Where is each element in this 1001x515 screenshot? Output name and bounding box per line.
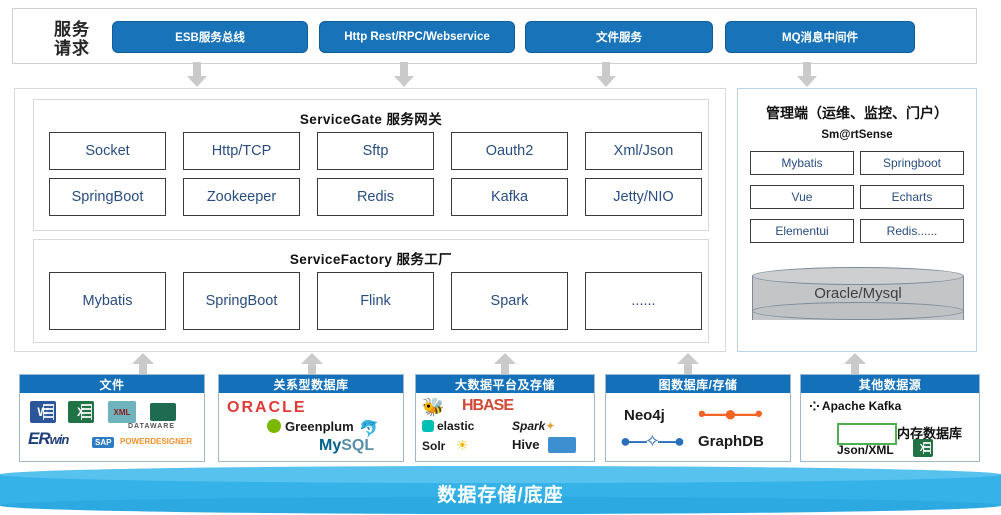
service-request-label-line2: 请求 <box>39 39 105 58</box>
service-factory-title: ServiceFactory 服务工厂 <box>34 248 708 268</box>
erwin-logo: ERwin <box>28 429 68 449</box>
gate-cell-springboot[interactable]: SpringBoot <box>49 178 166 216</box>
oracle-logo: ORACLE <box>227 399 307 417</box>
datasource-title-files: 文件 <box>20 375 204 393</box>
arrow-down-icon-4 <box>796 62 818 88</box>
file-stack-icon <box>150 403 176 421</box>
gate-cell-kafka[interactable]: Kafka <box>451 178 568 216</box>
solr-sun-icon: ☀ <box>456 437 469 454</box>
hbase-logo: HBASE <box>462 397 513 415</box>
graphdb-nodes-icon: •—●—• <box>698 401 761 427</box>
datasource-title-others: 其他数据源 <box>801 375 979 393</box>
sap-logo: SAP <box>92 437 114 448</box>
gate-cell-sftp[interactable]: Sftp <box>317 132 434 170</box>
arrow-down-icon-2 <box>393 62 415 88</box>
gate-cell-jetty-nio[interactable]: Jetty/NIO <box>585 178 702 216</box>
data-storage-base-label: 数据存储/底座 <box>0 480 1001 507</box>
xml-icon: XML <box>108 401 136 423</box>
spark-logo: Spark✦ <box>512 419 555 433</box>
gate-cell-xml-json[interactable]: Xml/Json <box>585 132 702 170</box>
datasource-card-files: 文件 W X XML ERwin SAP POWERDESIGNER DATAW… <box>19 374 205 462</box>
admin-panel-title: 管理端（运维、监控、门户） <box>738 103 976 123</box>
datasource-body-graphdb: Neo4j •—●—• ●—✧—● GraphDB <box>606 393 790 461</box>
service-request-band: 服务 请求 ESB服务总线 Http Rest/RPC/Webservice 文… <box>12 8 977 64</box>
factory-cell-more[interactable]: ...... <box>585 272 702 330</box>
admin-cell-springboot[interactable]: Springboot <box>860 151 964 175</box>
graphdb-logo: GraphDB <box>698 433 764 450</box>
admin-cell-mybatis[interactable]: Mybatis <box>750 151 854 175</box>
service-button-esb[interactable]: ESB服务总线 <box>112 21 308 53</box>
memory-db-icon <box>837 423 897 445</box>
datasource-card-graphdb: 图数据库/存储 Neo4j •—●—• ●—✧—● GraphDB <box>605 374 791 462</box>
datasource-card-others: 其他数据源 ⁘Apache Kafka 内存数据库 Json/XML X <box>800 374 980 462</box>
greenplum-logo: Greenplum <box>267 419 354 434</box>
solr-logo: Solr <box>422 439 445 453</box>
datasource-title-graphdb: 图数据库/存储 <box>606 375 790 393</box>
cylinder-bottom-ellipse <box>752 302 964 320</box>
datasource-body-others: ⁘Apache Kafka 内存数据库 Json/XML X <box>801 393 979 461</box>
factory-cell-flink[interactable]: Flink <box>317 272 434 330</box>
gate-cell-oauth2[interactable]: Oauth2 <box>451 132 568 170</box>
factory-cell-mybatis[interactable]: Mybatis <box>49 272 166 330</box>
excel-icon: X <box>68 401 94 423</box>
excel-other-icon: X <box>913 439 933 457</box>
cylinder-top-ellipse <box>752 267 964 285</box>
service-factory-panel: ServiceFactory 服务工厂 Mybatis SpringBoot F… <box>33 239 709 343</box>
word-icon: W <box>30 401 56 423</box>
powerdesigner-logo: POWERDESIGNER <box>120 437 192 446</box>
admin-database-cylinder: Oracle/Mysql <box>752 267 964 329</box>
neo4j-logo: Neo4j <box>624 407 665 424</box>
elastic-logo: elastic <box>422 419 474 433</box>
datasource-body-bigdata: 🐝 HBASE elastic Spark✦ Solr ☀ Hive <box>416 393 594 461</box>
data-storage-base: 数据存储/底座 <box>0 466 1001 514</box>
gate-cell-http-tcp[interactable]: Http/TCP <box>183 132 300 170</box>
service-request-label-line1: 服务 <box>39 20 105 39</box>
dataware-logo: DATAWARE <box>128 423 175 430</box>
admin-cell-echarts[interactable]: Echarts <box>860 185 964 209</box>
dolphin-icon: 🐬 <box>359 419 379 439</box>
service-gate-title: ServiceGate 服务网关 <box>34 108 708 128</box>
admin-cell-redis[interactable]: Redis...... <box>860 219 964 243</box>
mysql-logo: MySQL <box>319 437 374 455</box>
factory-cell-spark[interactable]: Spark <box>451 272 568 330</box>
service-request-label: 服务 请求 <box>39 20 105 58</box>
service-gate-panel: ServiceGate 服务网关 Socket Http/TCP Sftp Oa… <box>33 99 709 231</box>
admin-panel: 管理端（运维、监控、门户） Sm@rtSense Mybatis Springb… <box>737 88 977 352</box>
platform-container: ServiceGate 服务网关 Socket Http/TCP Sftp Oa… <box>14 88 726 352</box>
datasource-card-bigdata: 大数据平台及存储 🐝 HBASE elastic Spark✦ Solr ☀ H… <box>415 374 595 462</box>
hive-box-icon <box>548 437 576 453</box>
service-button-file[interactable]: 文件服务 <box>525 21 713 53</box>
datasource-body-rdbms: ORACLE Greenplum MySQL 🐬 <box>219 393 403 461</box>
service-button-mq[interactable]: MQ消息中间件 <box>725 21 915 53</box>
apache-kafka-logo: ⁘Apache Kafka <box>809 399 901 415</box>
gate-cell-socket[interactable]: Socket <box>49 132 166 170</box>
arrow-down-icon-3 <box>595 62 617 88</box>
datasource-card-rdbms: 关系型数据库 ORACLE Greenplum MySQL 🐬 <box>218 374 404 462</box>
arrow-down-icon-1 <box>186 62 208 88</box>
neo4j-graph-icon: ●—✧—● <box>620 431 683 452</box>
factory-cell-springboot[interactable]: SpringBoot <box>183 272 300 330</box>
service-button-http-rest[interactable]: Http Rest/RPC/Webservice <box>319 21 515 53</box>
datasource-title-bigdata: 大数据平台及存储 <box>416 375 594 393</box>
hadoop-hive-icon: 🐝 <box>422 397 444 418</box>
gate-cell-redis[interactable]: Redis <box>317 178 434 216</box>
hive-logo: Hive <box>512 437 539 452</box>
gate-cell-zookeeper[interactable]: Zookeeper <box>183 178 300 216</box>
datasource-body-files: W X XML ERwin SAP POWERDESIGNER DATAWARE <box>20 393 204 461</box>
datasource-title-rdbms: 关系型数据库 <box>219 375 403 393</box>
admin-cell-vue[interactable]: Vue <box>750 185 854 209</box>
admin-database-label: Oracle/Mysql <box>752 285 964 302</box>
admin-cell-elementui[interactable]: Elementui <box>750 219 854 243</box>
admin-panel-subtitle: Sm@rtSense <box>738 129 976 141</box>
json-xml-label: Json/XML <box>837 443 894 457</box>
